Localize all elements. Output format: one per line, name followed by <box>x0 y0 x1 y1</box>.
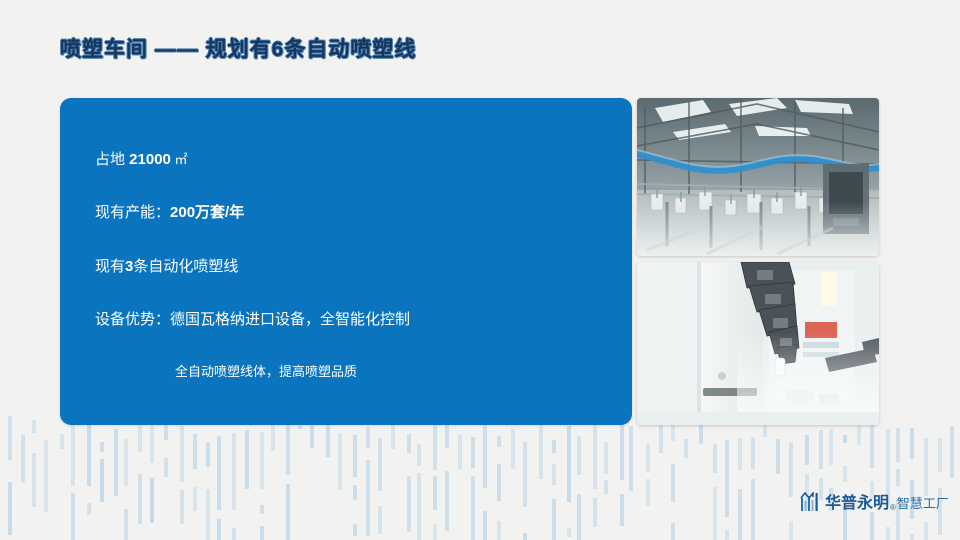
slide-root: 喷塑车间 —— 规划有6条自动喷塑线 占地 21000 ㎡现有产能：200万套/… <box>0 0 960 540</box>
decorative-bar <box>843 435 847 444</box>
decorative-bar <box>805 435 809 465</box>
decorative-bar <box>445 424 449 448</box>
decorative-bar <box>217 436 221 510</box>
info-line: 设备优势：德国瓦格纳进口设备，全智能化控制 <box>95 310 612 330</box>
decorative-bar <box>567 528 571 537</box>
decorative-bar <box>870 420 874 468</box>
decorative-bar <box>124 439 128 486</box>
decorative-bar <box>896 469 900 485</box>
decorative-bar <box>789 442 793 497</box>
info-line: 全自动喷塑线体，提高喷塑品质 <box>175 363 612 381</box>
decorative-bar <box>407 434 411 454</box>
decorative-bar <box>326 423 330 457</box>
decorative-bar <box>193 434 197 469</box>
decorative-bar <box>32 453 36 507</box>
decorative-bar <box>8 416 12 460</box>
info-line: 现有产能：200万套/年 <box>95 203 612 223</box>
decorative-bar <box>245 430 249 489</box>
logo-brand-name: 华普永明 <box>825 495 889 512</box>
info-line-prefix: 全自动喷塑线体，提高喷塑品质 <box>175 364 357 379</box>
decorative-bar <box>924 522 928 540</box>
info-line-suffix: ㎡ <box>171 152 188 167</box>
photo-workshop-overview <box>637 98 879 256</box>
decorative-bar <box>738 438 742 471</box>
decorative-bar <box>87 415 91 486</box>
decorative-bar <box>671 464 675 503</box>
decorative-bar <box>511 429 515 469</box>
decorative-bar <box>21 435 25 482</box>
decorative-bar <box>150 478 154 524</box>
decorative-bar <box>471 437 475 468</box>
decorative-bar <box>138 474 142 524</box>
decorative-bar <box>87 503 91 515</box>
decorative-bar <box>896 428 900 463</box>
decorative-bar <box>100 442 104 452</box>
decorative-bar <box>593 498 597 528</box>
decorative-bar <box>497 464 501 501</box>
decorative-bar <box>338 433 342 491</box>
info-line-prefix: 设备优势：德国瓦格纳进口设备，全智能化控制 <box>95 311 410 328</box>
decorative-bar <box>353 435 357 477</box>
decorative-bar <box>445 471 449 531</box>
decorative-bar <box>260 526 264 540</box>
decorative-bar <box>829 429 833 465</box>
decorative-bar <box>124 509 128 540</box>
decorative-bar <box>646 444 650 472</box>
logo-sub-name: 智慧工厂 <box>897 495 949 512</box>
decorative-bar <box>407 476 411 533</box>
decorative-bar <box>193 487 197 511</box>
decorative-bar <box>577 494 581 540</box>
info-line-emphasis: 21000 <box>129 151 171 168</box>
decorative-bar <box>552 499 556 540</box>
decorative-bar <box>620 494 624 526</box>
decorative-bar <box>910 428 914 459</box>
page-title: 喷塑车间 —— 规划有6条自动喷塑线 <box>60 33 416 63</box>
info-line-list: 占地 21000 ㎡现有产能：200万套/年现有3条自动化喷塑线设备优势：德国瓦… <box>95 150 612 381</box>
decorative-bar <box>164 458 168 477</box>
info-line-prefix: 现有 <box>95 258 125 275</box>
decorative-bar <box>417 444 421 466</box>
decorative-bar <box>60 434 64 449</box>
decorative-bar <box>620 420 624 480</box>
decorative-bar-pattern <box>0 408 960 540</box>
decorative-bar <box>71 493 75 540</box>
decorative-bar <box>180 426 184 482</box>
decorative-bar <box>819 430 823 469</box>
decorative-bar <box>523 533 527 540</box>
decorative-bar <box>629 426 633 491</box>
decorative-bar <box>789 522 793 540</box>
decorative-bar <box>604 442 608 473</box>
decorative-bar <box>725 440 729 517</box>
info-panel: 占地 21000 ㎡现有产能：200万套/年现有3条自动化喷塑线设备优势：德国瓦… <box>60 98 632 425</box>
decorative-bar <box>671 523 675 540</box>
decorative-bar <box>100 459 104 502</box>
decorative-bar <box>539 424 543 480</box>
decorative-bar <box>523 442 527 508</box>
decorative-bar <box>552 440 556 453</box>
decorative-bar <box>910 534 914 540</box>
decorative-bar <box>886 527 890 540</box>
decorative-bar <box>593 422 597 490</box>
decorative-bar <box>471 476 475 540</box>
decorative-bar <box>483 415 487 488</box>
spray-booth-photo-illustration <box>637 262 879 425</box>
decorative-bar <box>713 444 717 474</box>
decorative-bar <box>938 438 942 472</box>
decorative-bar <box>8 482 12 535</box>
photo-spray-booth <box>637 262 879 425</box>
decorative-bar <box>366 460 370 536</box>
decorative-bar <box>751 438 755 469</box>
decorative-bar <box>138 422 142 452</box>
decorative-bar <box>552 464 556 485</box>
decorative-bar <box>206 442 210 467</box>
logo-registered-mark: ® <box>890 504 896 512</box>
info-line: 占地 21000 ㎡ <box>95 150 612 170</box>
decorative-bar <box>497 521 501 540</box>
info-line-prefix: 占地 <box>95 151 129 168</box>
decorative-bar <box>604 480 608 494</box>
decorative-bar <box>260 432 264 489</box>
decorative-bar <box>751 479 755 540</box>
decorative-bar <box>738 489 742 540</box>
decorative-bar <box>260 505 264 515</box>
decorative-bar <box>217 519 221 540</box>
decorative-bar <box>725 530 729 540</box>
decorative-bar <box>433 524 437 540</box>
decorative-bar <box>232 528 236 540</box>
decorative-bar <box>646 479 650 505</box>
decorative-bar <box>232 433 236 510</box>
decorative-bar <box>417 473 421 540</box>
decorative-bar <box>684 439 688 458</box>
info-line-prefix: 现有产能： <box>95 204 170 221</box>
brand-logo: 华普永明 ® 智慧工厂 <box>800 488 949 512</box>
decorative-bar <box>713 487 717 540</box>
decorative-bar <box>353 485 357 500</box>
decorative-bar <box>950 426 954 478</box>
decorative-bar <box>497 436 501 447</box>
decorative-bar <box>44 440 48 512</box>
info-line-suffix: 条自动化喷塑线 <box>133 258 238 275</box>
decorative-bar <box>483 511 487 540</box>
decorative-bar <box>433 476 437 510</box>
workshop-photo-illustration <box>637 98 879 256</box>
decorative-bar <box>114 429 118 496</box>
decorative-bar <box>180 490 184 524</box>
decorative-bar <box>567 426 571 502</box>
decorative-bar <box>353 524 357 536</box>
decorative-bar <box>378 506 382 534</box>
decorative-bar <box>206 489 210 540</box>
decorative-bar <box>577 436 581 475</box>
decorative-bar <box>433 419 437 471</box>
decorative-bar <box>286 484 290 540</box>
decorative-bar <box>870 512 874 540</box>
decorative-bar <box>366 427 370 448</box>
decorative-bar <box>843 466 847 482</box>
info-line: 现有3条自动化喷塑线 <box>95 257 612 277</box>
decorative-bar <box>458 435 462 469</box>
decorative-bar <box>32 420 36 434</box>
decorative-bar <box>378 438 382 492</box>
info-line-emphasis: 200万套/年 <box>170 204 244 221</box>
decorative-bar <box>776 439 780 474</box>
huapu-bars-icon <box>800 492 820 512</box>
decorative-bar <box>286 425 290 474</box>
